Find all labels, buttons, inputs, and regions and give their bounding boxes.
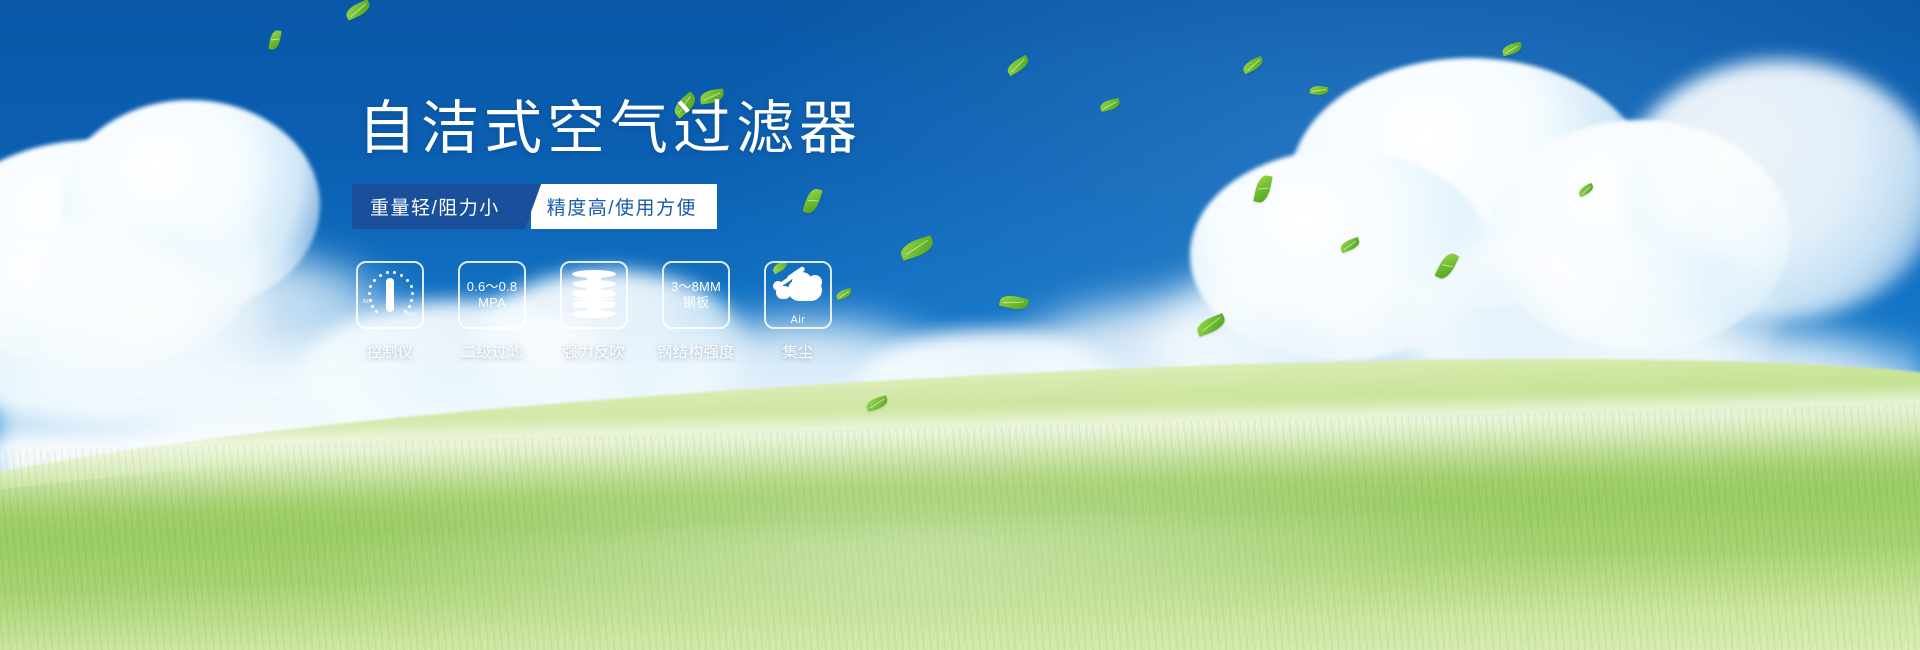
feature-icon-box: NO OFF xyxy=(356,261,424,329)
steel-line-2: 钢板 xyxy=(671,295,721,311)
grass-hill-front xyxy=(0,397,1920,650)
grass-field xyxy=(0,340,1920,650)
page-title: 自洁式空气过滤器 xyxy=(358,100,1070,158)
pressure-line-2: MPA xyxy=(467,295,518,311)
feature-item: 强力反吹 xyxy=(560,261,628,362)
feature-icon-box: 0.6〜0.8 MPA xyxy=(458,261,526,329)
cloud-glyph xyxy=(770,267,826,313)
pressure-text-icon: 0.6〜0.8 MPA xyxy=(467,279,518,311)
feature-item: Air 集尘 xyxy=(764,261,832,362)
feature-item: 0.6〜0.8 MPA 二级过滤 xyxy=(458,261,526,362)
pressure-line-1: 0.6〜0.8 xyxy=(467,279,518,295)
steel-plate-text-icon: 3〜8MM 钢板 xyxy=(671,279,721,311)
feature-label: 钢结构强度 xyxy=(657,341,735,362)
banner-content: 自洁式空气过滤器 重量轻/阻力小 精度高/使用方便 xyxy=(350,100,1070,362)
tagline-primary: 重量轻/阻力小 xyxy=(352,184,520,229)
tagline-group: 重量轻/阻力小 精度高/使用方便 xyxy=(352,184,1070,229)
control-dial-icon: NO OFF xyxy=(364,269,416,321)
filter-cartridge-icon xyxy=(572,270,616,320)
feature-item: 3〜8MM 钢板 钢结构强度 xyxy=(662,261,730,362)
dial-label-off: OFF xyxy=(406,312,417,318)
air-label: Air xyxy=(770,314,826,326)
tagline-secondary: 精度高/使用方便 xyxy=(531,184,717,229)
feature-label: 二级过滤 xyxy=(461,341,523,362)
feature-list: NO OFF 控制仪 0.6〜0.8 MPA 二级过滤 xyxy=(356,261,1070,362)
feature-label: 强力反吹 xyxy=(563,341,625,362)
dial-pointer xyxy=(386,278,394,312)
feature-item: NO OFF 控制仪 xyxy=(356,261,424,362)
feature-icon-box xyxy=(560,261,628,329)
feature-label: 控制仪 xyxy=(367,341,414,362)
grass-highlight xyxy=(286,460,1537,646)
feature-icon-box: 3〜8MM 钢板 xyxy=(662,261,730,329)
feature-label: 集尘 xyxy=(782,341,813,362)
dial-label-on: NO xyxy=(363,299,371,305)
feature-icon-box: Air xyxy=(764,261,832,329)
steel-line-1: 3〜8MM xyxy=(671,279,721,295)
air-cloud-icon: Air xyxy=(770,265,826,325)
product-hero-banner: 自洁式空气过滤器 重量轻/阻力小 精度高/使用方便 xyxy=(0,0,1920,650)
